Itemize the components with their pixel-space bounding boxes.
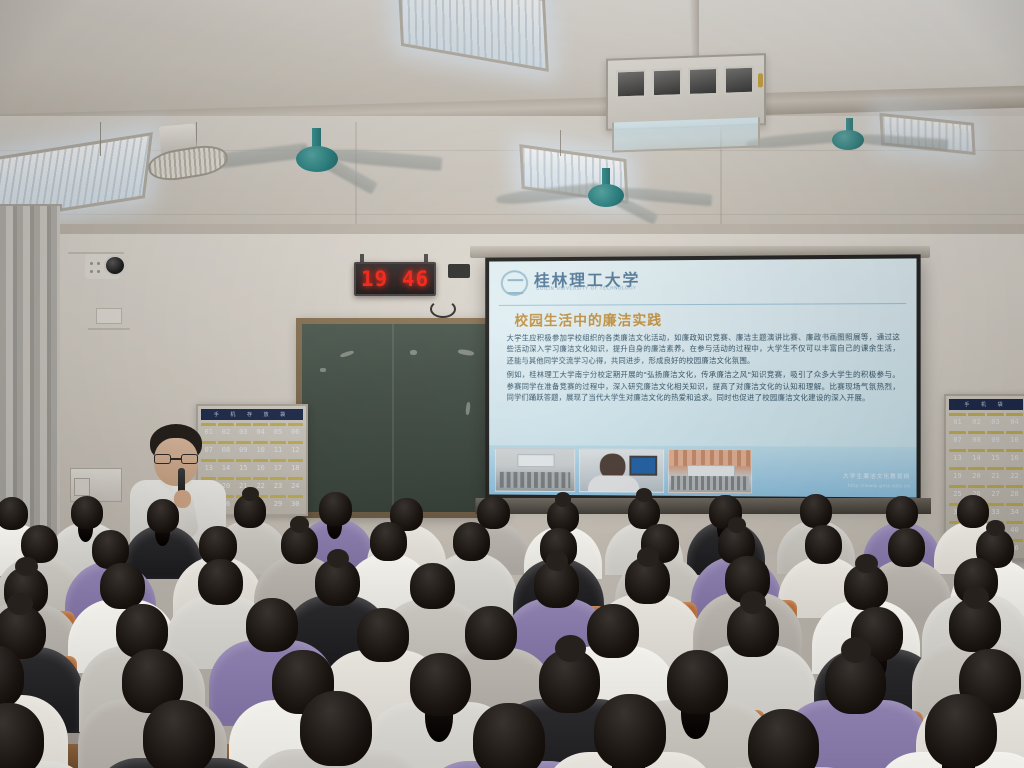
- audience-member-hair-bun: [855, 554, 877, 574]
- phone-pocket-13[interactable]: 13: [949, 449, 966, 465]
- chalk-smudge-4: [320, 368, 326, 372]
- audience-member-head: [319, 492, 351, 525]
- slide-header-divider: [499, 303, 906, 306]
- phone-pocket-22[interactable]: 22: [1006, 467, 1023, 483]
- audience-member-hair-bun: [637, 547, 659, 567]
- phone-pocket-17[interactable]: 17: [270, 459, 285, 475]
- slide-body: 大学生应积极参加学校组织的各类廉洁文化活动，如廉政知识竞赛、廉洁主题演讲比赛、廉…: [507, 331, 900, 406]
- audience-member-head: [410, 653, 471, 717]
- hanging-cable: [430, 300, 456, 318]
- watermark-line-1: 大学生廉洁文化教育网: [843, 473, 910, 483]
- phone-pocket-07[interactable]: 07: [949, 431, 966, 447]
- phone-pocket-27[interactable]: 27: [987, 485, 1004, 501]
- slide-paragraph-1: 大学生应积极参加学校组织的各类廉洁文化活动，如廉政知识竞赛、廉洁主题演讲比赛、廉…: [507, 331, 900, 366]
- audience-member-head: [587, 604, 639, 658]
- phone-pocket-09[interactable]: 09: [987, 431, 1004, 447]
- phone-pocket-12[interactable]: 12: [288, 441, 303, 457]
- phone-pocket-01[interactable]: 01: [949, 413, 966, 429]
- light-hanger-wire-1: [100, 122, 101, 156]
- audience-member-head: [100, 563, 145, 609]
- wall-digital-clock: 19 46: [354, 262, 436, 296]
- phone-pocket-24[interactable]: 24: [288, 477, 303, 493]
- phone-pocket-04[interactable]: 04: [1006, 413, 1023, 429]
- wall-conduit: [88, 328, 130, 330]
- watermark-line-2: http://www.gxlz.edu.cn: [843, 482, 910, 492]
- audience-member-head: [143, 700, 215, 768]
- phone-pocket-04[interactable]: 04: [253, 423, 268, 439]
- slide-paragraph-2: 例如，桂林理工大学南宁分校定期开展的"弘扬廉洁文化，传承廉洁之风"知识竞赛，吸引…: [507, 369, 900, 404]
- phone-pocket-16[interactable]: 16: [253, 459, 268, 475]
- photo-lecture-hall: [495, 448, 575, 492]
- phone-pocket-15[interactable]: 15: [236, 459, 251, 475]
- audience-member-head: [886, 496, 918, 529]
- phone-pocket-10[interactable]: 10: [1006, 431, 1023, 447]
- audience-member-head: [410, 563, 455, 609]
- audience-member-head: [925, 694, 997, 768]
- university-logo-icon: [501, 270, 528, 296]
- camera-ir-dot-2: [97, 262, 100, 265]
- audience-member-hair-bun: [15, 557, 37, 577]
- audience-member-hair-bun: [242, 487, 258, 501]
- audience-member-head: [594, 694, 666, 768]
- phone-pocket-21[interactable]: 21: [987, 467, 1004, 483]
- slide-header: 桂林理工大学 GUILIN UNIVERSITY OF TECHNOLOGY: [501, 265, 904, 303]
- slide-watermark: 大学生廉洁文化教育网 http://www.gxlz.edu.cn: [843, 473, 910, 492]
- ceiling-fan-left: [250, 128, 420, 188]
- phone-pocket-03[interactable]: 03: [987, 413, 1004, 429]
- glasses-icon: [154, 454, 198, 464]
- ceiling-fan-right: [548, 168, 698, 224]
- audience-member-hair-bun: [555, 635, 586, 662]
- photo-student-computer: [579, 448, 664, 492]
- phone-pocket-14[interactable]: 14: [968, 449, 985, 465]
- slide-photo-strip: 大学生廉洁文化教育网 http://www.gxlz.edu.cn: [489, 445, 916, 497]
- audience-member-head: [147, 499, 179, 532]
- student-audience: [0, 500, 1024, 768]
- phone-pocket-05[interactable]: 05: [270, 423, 285, 439]
- audience-member-hair-bun: [290, 516, 309, 532]
- green-chalkboard: [296, 318, 504, 518]
- phone-pocket-15[interactable]: 15: [987, 449, 1004, 465]
- audience-member-head: [465, 606, 517, 660]
- wall-outlet-switch[interactable]: [74, 478, 90, 496]
- phone-pocket-16[interactable]: 16: [1006, 449, 1023, 465]
- wall-security-camera: [104, 255, 126, 276]
- ceiling-seam-2: [0, 214, 1024, 215]
- phone-pocket-02[interactable]: 02: [968, 413, 985, 429]
- slide-title: 校园生活中的廉洁实践: [514, 310, 662, 330]
- chalk-smudge-2: [410, 350, 417, 355]
- audience-member-head: [71, 496, 103, 529]
- audience-member-head: [0, 497, 28, 530]
- ceiling-projector-lens-glow: [612, 117, 760, 152]
- phone-pocket-08[interactable]: 08: [968, 431, 985, 447]
- chalkboard-seam: [392, 324, 394, 514]
- audience-member-head: [667, 650, 728, 714]
- phone-pocket-03[interactable]: 03: [236, 423, 251, 439]
- phone-pocket-23[interactable]: 23: [270, 477, 285, 493]
- projector-cage-lock: [758, 73, 763, 87]
- audience-member-hair-bun: [546, 551, 568, 571]
- phone-pocket-11[interactable]: 11: [270, 441, 285, 457]
- audience-member-head: [357, 608, 409, 662]
- pocket-board-left-header: 手 机 存 放 袋: [201, 409, 303, 420]
- audience-member-head: [300, 691, 372, 766]
- projection-screen: 桂林理工大学 GUILIN UNIVERSITY OF TECHNOLOGY 校…: [485, 254, 920, 501]
- audience-member-head: [957, 495, 989, 528]
- projector-mount-pole: [690, 0, 699, 58]
- presentation-slide: 桂林理工大学 GUILIN UNIVERSITY OF TECHNOLOGY 校…: [489, 258, 916, 497]
- audience-member-head: [246, 598, 298, 652]
- wall-notice-plate: [96, 308, 122, 324]
- phone-pocket-20[interactable]: 20: [968, 467, 985, 483]
- audience-member-head: [453, 522, 490, 561]
- photo-auditorium: [668, 449, 752, 494]
- wall-conduit-top: [68, 252, 124, 254]
- wall-speaker-box: [448, 264, 470, 278]
- audience-member-hair-bun: [963, 586, 989, 609]
- university-name-en: GUILIN UNIVERSITY OF TECHNOLOGY: [536, 286, 636, 292]
- phone-pocket-06[interactable]: 06: [288, 423, 303, 439]
- wall-trim: [0, 224, 1024, 234]
- camera-ir-dot-3: [90, 270, 93, 273]
- lecture-hall-photo: 19 46 桂林理工大学 GUILIN UNIVERSITY OF TECHNO…: [0, 0, 1024, 768]
- phone-pocket-18[interactable]: 18: [288, 459, 303, 475]
- audience-member-hair-bun: [555, 492, 571, 506]
- clock-time-display: 19 46: [361, 267, 429, 291]
- audience-member-head: [805, 525, 842, 564]
- camera-ir-dot-1: [90, 262, 93, 265]
- light-hanger-wire-3: [560, 130, 561, 156]
- camera-ir-dot-4: [97, 270, 100, 273]
- audience-member-head: [473, 703, 545, 768]
- ceiling-fan-far-right: [790, 118, 940, 168]
- audience-member-head: [198, 559, 243, 605]
- phone-pocket-09[interactable]: 09: [236, 441, 251, 457]
- audience-member-head: [370, 522, 407, 561]
- audience-member-head: [888, 528, 925, 567]
- pocket-board-right-header: 手 机 袋: [949, 399, 1023, 410]
- audience-member-head: [800, 494, 832, 527]
- phone-pocket-28[interactable]: 28: [1006, 485, 1023, 501]
- phone-pocket-19[interactable]: 19: [949, 467, 966, 483]
- phone-pocket-10[interactable]: 10: [253, 441, 268, 457]
